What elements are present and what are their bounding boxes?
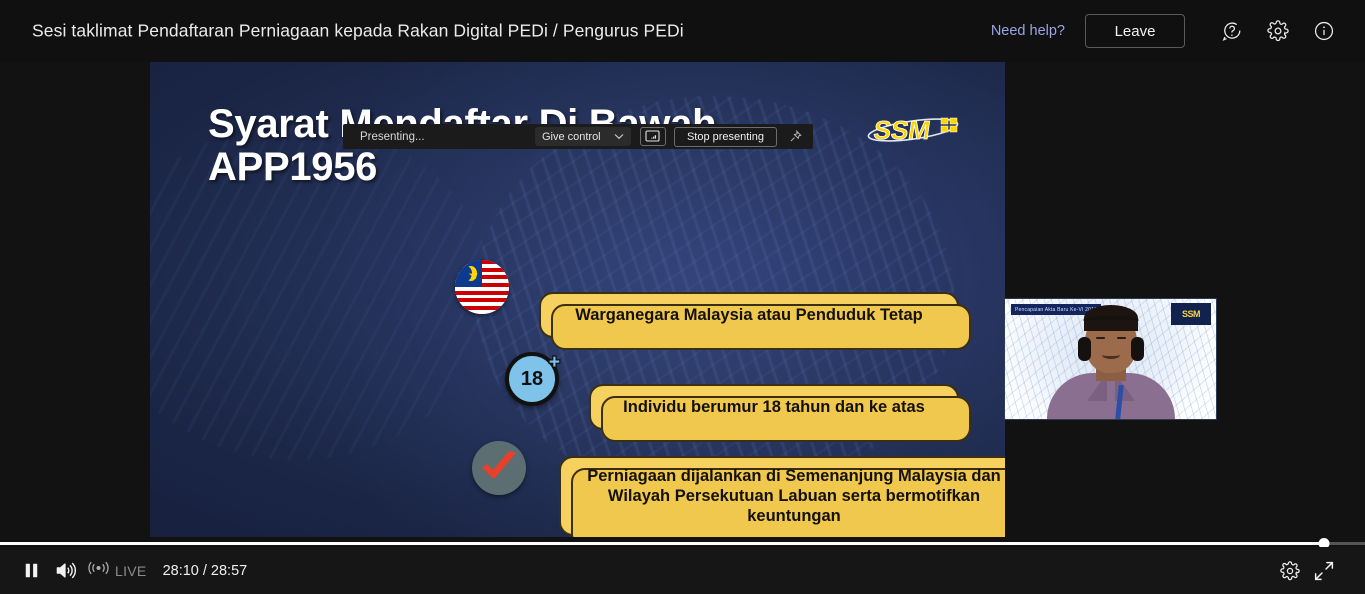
- gear-icon[interactable]: [1261, 14, 1295, 48]
- need-help-link[interactable]: Need help?: [991, 23, 1065, 39]
- live-indicator[interactable]: LIVE: [88, 561, 147, 580]
- presenting-status-label: Presenting...: [360, 131, 425, 143]
- slide-bullet-3-text: Perniagaan dijalankan di Semenanjung Mal…: [559, 456, 1005, 536]
- meeting-title: Sesi taklimat Pendaftaran Perniagaan kep…: [32, 21, 684, 42]
- malaysia-flag-icon: ★: [455, 260, 509, 314]
- leave-button[interactable]: Leave: [1085, 14, 1185, 48]
- progress-fill: [0, 542, 1324, 545]
- player-controls-bar: LIVE 28:10 / 28:57: [0, 547, 1365, 594]
- svg-text:SSM: SSM: [872, 115, 933, 145]
- headphone-left-icon: [1078, 337, 1091, 361]
- chevron-down-icon: [614, 131, 624, 143]
- top-header-bar: Sesi taklimat Pendaftaran Perniagaan kep…: [0, 0, 1365, 62]
- slide-bullet-2-text: Individu berumur 18 tahun dan ke atas: [589, 384, 959, 430]
- ssm-logo: SSM: [867, 108, 963, 152]
- participant-video-tile[interactable]: Pencapaian Akta Baru Ke-VI 2017 SSM: [1004, 298, 1217, 420]
- live-broadcast-icon: [88, 561, 109, 580]
- playback-progress-slider[interactable]: [0, 539, 1365, 547]
- slide-bullet-3: Perniagaan dijalankan di Semenanjung Mal…: [505, 456, 1005, 536]
- gear-icon[interactable]: [1273, 554, 1307, 588]
- headphone-right-icon: [1131, 337, 1144, 361]
- meeting-player-app: Sesi taklimat Pendaftaran Perniagaan kep…: [0, 0, 1365, 594]
- age-18-plus-icon: 18 +: [505, 352, 559, 406]
- monitor-share-icon[interactable]: [640, 127, 666, 146]
- help-chat-icon[interactable]: [1215, 14, 1249, 48]
- header-actions: Need help? Leave: [991, 0, 1347, 62]
- slide-bullet-1-text: Warganegara Malaysia atau Penduduk Tetap: [539, 292, 959, 338]
- presenting-toolbar: Presenting... Give control Stop presenti…: [343, 124, 813, 149]
- info-icon[interactable]: [1307, 14, 1341, 48]
- red-check-icon: [472, 441, 526, 495]
- slide-bullet-1: ★ Warganegara Malaysia atau Penduduk Tet…: [485, 288, 959, 342]
- expand-icon[interactable]: [1307, 554, 1341, 588]
- slide-bullet-2: 18 + Individu berumur 18 tahun dan ke at…: [535, 380, 959, 434]
- meeting-stage: Syarat Mendaftar Di Bawah APP1956 SSM: [0, 62, 1365, 533]
- stop-presenting-button[interactable]: Stop presenting: [674, 127, 777, 147]
- live-label: LIVE: [115, 563, 147, 579]
- age-badge-plus: +: [549, 352, 560, 374]
- headphone-band-icon: [1083, 316, 1139, 325]
- give-control-label: Give control: [542, 131, 601, 143]
- participant-person: [1005, 299, 1216, 419]
- time-display: 28:10 / 28:57: [163, 563, 248, 579]
- pin-icon[interactable]: [785, 127, 805, 147]
- age-badge-number: 18: [521, 368, 543, 391]
- pause-icon[interactable]: [14, 554, 48, 588]
- give-control-dropdown[interactable]: Give control: [535, 127, 631, 146]
- volume-icon[interactable]: [48, 554, 82, 588]
